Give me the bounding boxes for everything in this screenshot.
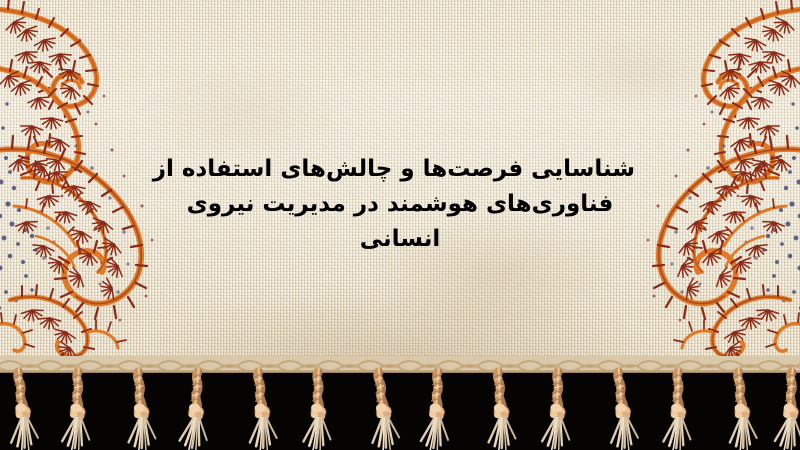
backdrop <box>0 372 800 450</box>
slide-title: شناسایی فرصت‌ها و چالش‌های استفاده از فن… <box>165 152 635 257</box>
title-line-3: انسانی <box>165 222 635 257</box>
title-line-2: فناوری‌های هوشمند در مدیریت نیروی <box>165 187 635 222</box>
slide-canvas: شناسایی فرصت‌ها و چالش‌های استفاده از فن… <box>0 0 800 450</box>
title-line-1: شناسایی فرصت‌ها و چالش‌های استفاده از <box>165 152 635 187</box>
fabric-selvedge-shadow <box>0 356 800 372</box>
